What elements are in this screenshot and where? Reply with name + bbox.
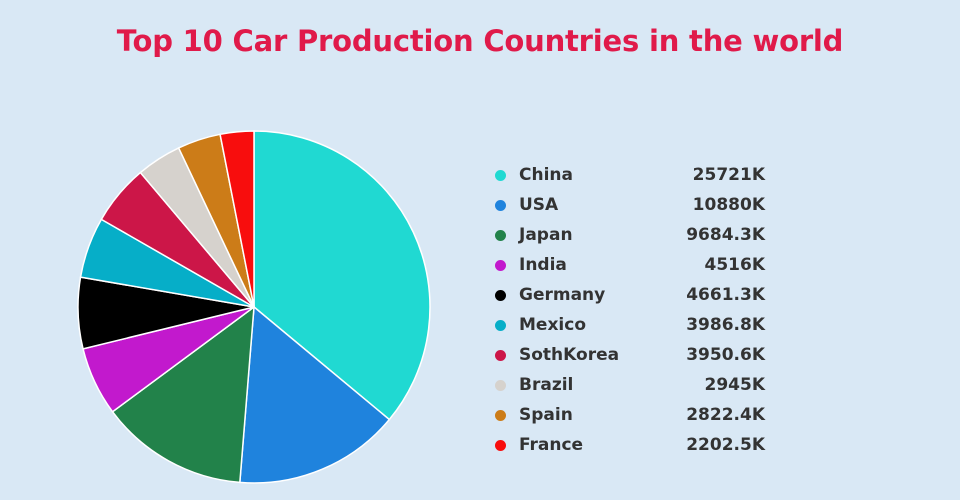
legend-item-japan[interactable]: Japan9684.3K bbox=[495, 220, 765, 250]
legend-swatch-icon bbox=[495, 170, 506, 181]
chart-legend: China25721KUSA10880KJapan9684.3KIndia451… bbox=[495, 160, 765, 460]
legend-swatch-icon bbox=[495, 290, 506, 301]
legend-item-value: 3950.6K bbox=[686, 345, 765, 365]
legend-item-china[interactable]: China25721K bbox=[495, 160, 765, 190]
legend-swatch-icon bbox=[495, 260, 506, 271]
legend-item-value: 2822.4K bbox=[686, 405, 765, 425]
pie-chart bbox=[77, 130, 431, 484]
legend-swatch-icon bbox=[495, 230, 506, 241]
legend-item-value: 3986.8K bbox=[686, 315, 765, 335]
legend-item-value: 2945K bbox=[705, 375, 766, 395]
legend-item-label: Spain bbox=[519, 405, 573, 425]
legend-item-label: SothKorea bbox=[519, 345, 619, 365]
legend-item-label: India bbox=[519, 255, 567, 275]
legend-swatch-icon bbox=[495, 440, 506, 451]
legend-item-value: 9684.3K bbox=[686, 225, 765, 245]
legend-swatch-icon bbox=[495, 380, 506, 391]
legend-item-value: 2202.5K bbox=[686, 435, 765, 455]
legend-item-usa[interactable]: USA10880K bbox=[495, 190, 765, 220]
legend-item-value: 25721K bbox=[693, 165, 765, 185]
page-title: Top 10 Car Production Countries in the w… bbox=[0, 24, 960, 58]
legend-item-germany[interactable]: Germany4661.3K bbox=[495, 280, 765, 310]
legend-swatch-icon bbox=[495, 350, 506, 361]
legend-item-france[interactable]: France2202.5K bbox=[495, 430, 765, 460]
legend-item-india[interactable]: India4516K bbox=[495, 250, 765, 280]
legend-item-value: 4516K bbox=[705, 255, 766, 275]
legend-item-label: Mexico bbox=[519, 315, 586, 335]
legend-item-label: Brazil bbox=[519, 375, 573, 395]
legend-item-label: Germany bbox=[519, 285, 605, 305]
legend-item-label: USA bbox=[519, 195, 558, 215]
legend-swatch-icon bbox=[495, 410, 506, 421]
pie-slice-group bbox=[78, 131, 430, 483]
legend-item-label: France bbox=[519, 435, 583, 455]
legend-item-label: China bbox=[519, 165, 573, 185]
legend-item-spain[interactable]: Spain2822.4K bbox=[495, 400, 765, 430]
legend-item-sothkorea[interactable]: SothKorea3950.6K bbox=[495, 340, 765, 370]
legend-item-brazil[interactable]: Brazil2945K bbox=[495, 370, 765, 400]
pie-chart-svg bbox=[77, 130, 431, 484]
legend-item-label: Japan bbox=[519, 225, 573, 245]
legend-item-value: 4661.3K bbox=[686, 285, 765, 305]
legend-swatch-icon bbox=[495, 320, 506, 331]
legend-item-mexico[interactable]: Mexico3986.8K bbox=[495, 310, 765, 340]
legend-item-value: 10880K bbox=[693, 195, 765, 215]
legend-swatch-icon bbox=[495, 200, 506, 211]
